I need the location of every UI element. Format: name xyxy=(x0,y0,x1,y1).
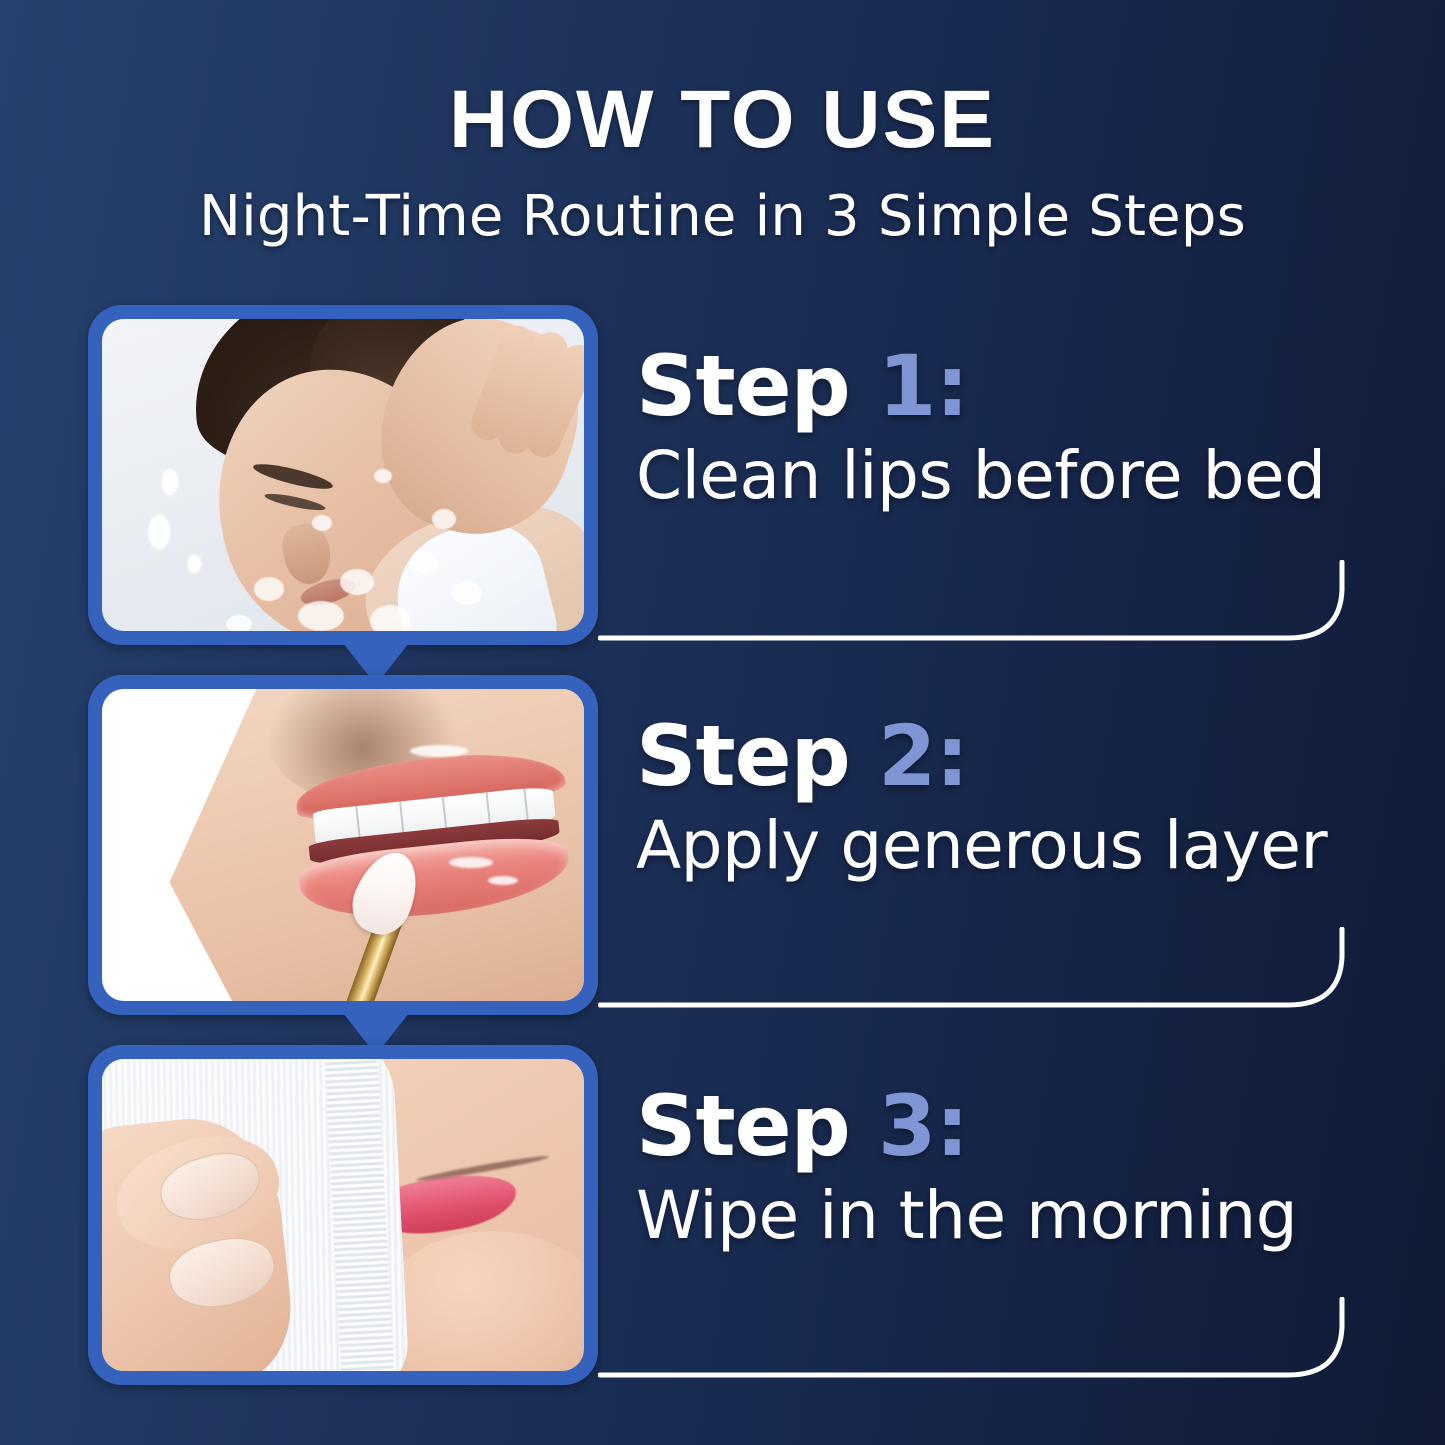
step-2-text: Step 2: Apply generous layer xyxy=(636,715,1396,881)
step-1-photo-frame xyxy=(88,305,598,645)
step-3-number: 3: xyxy=(878,1077,968,1175)
step-3-underline-flourish xyxy=(598,1297,1358,1389)
step-2-underline-flourish xyxy=(598,927,1358,1019)
step-3-label: Step xyxy=(636,1077,850,1175)
step-2-description: Apply generous layer xyxy=(636,811,1396,880)
step-1-number: 1: xyxy=(878,337,968,435)
how-to-use-infographic: HOW TO USE Night-Time Routine in 3 Simpl… xyxy=(0,0,1445,1445)
step-1-description: Clean lips before bed xyxy=(636,441,1396,510)
step-1-underline-flourish xyxy=(598,560,1358,652)
step-1-label: Step xyxy=(636,337,850,435)
header: HOW TO USE Night-Time Routine in 3 Simpl… xyxy=(0,78,1445,249)
step-row-2: Step 2: Apply generous layer xyxy=(0,675,1445,1045)
step-row-1: Step 1: Clean lips before bed xyxy=(0,305,1445,675)
woman-washing-face-photo xyxy=(102,319,584,631)
step-1-text: Step 1: Clean lips before bed xyxy=(636,345,1396,511)
step-2-number: 2: xyxy=(878,707,968,805)
lips-with-gold-applicator-photo xyxy=(102,689,584,1001)
page-title: HOW TO USE xyxy=(0,78,1445,162)
step-2-label: Step xyxy=(636,707,850,805)
step-3-text: Step 3: Wipe in the morning xyxy=(636,1085,1396,1251)
step-3-photo-frame xyxy=(88,1045,598,1385)
hand-wiping-lips-with-towel-photo xyxy=(102,1059,584,1371)
step-3-heading: Step 3: xyxy=(636,1085,1396,1167)
page-subtitle: Night-Time Routine in 3 Simple Steps xyxy=(0,184,1445,249)
step-2-photo-frame xyxy=(88,675,598,1015)
step-row-3: Step 3: Wipe in the morning xyxy=(0,1045,1445,1415)
step-1-heading: Step 1: xyxy=(636,345,1396,427)
step-3-description: Wipe in the morning xyxy=(636,1181,1396,1250)
step-2-heading: Step 2: xyxy=(636,715,1396,797)
